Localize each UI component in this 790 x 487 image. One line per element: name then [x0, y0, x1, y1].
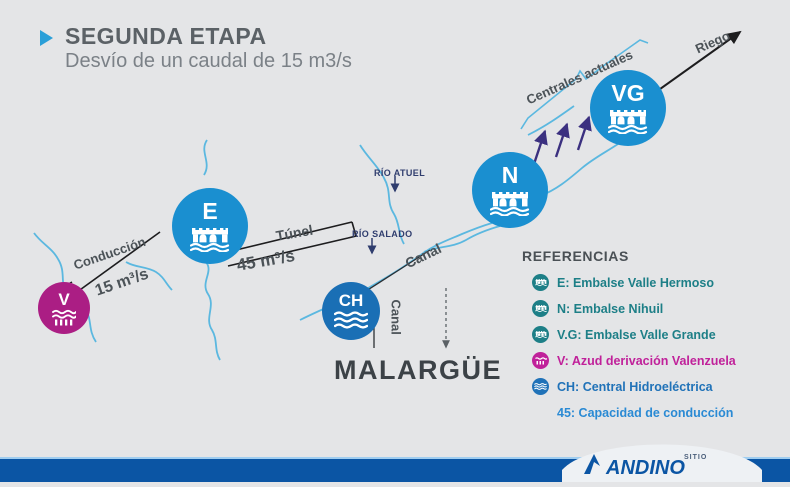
river-annotation-arrows	[372, 176, 395, 253]
reference-item-CH: CH: Central Hidroeléctrica	[522, 377, 736, 396]
azud-weir-icon	[532, 352, 549, 369]
map-node-E[interactable]: E	[172, 188, 248, 264]
reference-item-VG: V.G: Embalse Valle Grande	[522, 325, 736, 344]
dam-icon	[190, 225, 230, 252]
reference-item-V-label: V: Azud derivación Valenzuela	[557, 354, 736, 368]
map-node-V-label: V	[58, 291, 69, 308]
rio-atuel-label: RÍO ATUEL	[374, 168, 425, 178]
logo-primary-text: ANDINO	[605, 457, 685, 479]
map-node-N-label: N	[502, 164, 519, 187]
dam-icon	[532, 300, 549, 317]
blank-icon-placeholder	[532, 404, 549, 421]
map-node-N[interactable]: N	[472, 152, 548, 228]
map-node-CH-label: CH	[339, 292, 364, 309]
dam-icon	[608, 107, 648, 134]
waves-icon	[334, 311, 368, 331]
map-node-V[interactable]: V	[38, 282, 90, 334]
infographic-canvas: SEGUNDA ETAPA Desvío de un caudal de 15 …	[0, 0, 790, 482]
reference-item-45-label: 45: Capacidad de conducción	[557, 406, 733, 420]
sitio-andino-logo[interactable]: ANDINO SITIO	[562, 440, 762, 482]
map-node-VG[interactable]: VG	[590, 70, 666, 146]
map-node-CH[interactable]: CH	[322, 282, 380, 340]
rio-salado-label: RÍO SALADO	[352, 229, 413, 239]
logo-secondary-text: SITIO	[684, 454, 707, 461]
reference-item-V: V: Azud derivación Valenzuela	[522, 351, 736, 370]
reference-item-E: E: Embalse Valle Hermoso	[522, 273, 736, 292]
waves-icon	[532, 378, 549, 395]
reference-item-45: 45: Capacidad de conducción	[522, 403, 736, 422]
malargue-label: MALARGÜE	[334, 355, 502, 386]
dam-icon	[490, 189, 530, 216]
reference-item-N-label: N: Embalse Nihuil	[557, 302, 663, 316]
references-panel: REFERENCIAS E: Embalse Valle Hermoso N: …	[522, 248, 736, 429]
dam-icon	[532, 326, 549, 343]
map-node-VG-label: VG	[611, 82, 644, 105]
reference-item-N: N: Embalse Nihuil	[522, 299, 736, 318]
references-title: REFERENCIAS	[522, 248, 736, 264]
map-node-E-label: E	[202, 200, 217, 223]
canal-vertical-label: Canal	[389, 300, 404, 335]
reference-item-CH-label: CH: Central Hidroeléctrica	[557, 380, 713, 394]
reference-item-E-label: E: Embalse Valle Hermoso	[557, 276, 714, 290]
dam-icon	[532, 274, 549, 291]
reference-item-VG-label: V.G: Embalse Valle Grande	[557, 328, 716, 342]
azud-weir-icon	[52, 308, 76, 326]
